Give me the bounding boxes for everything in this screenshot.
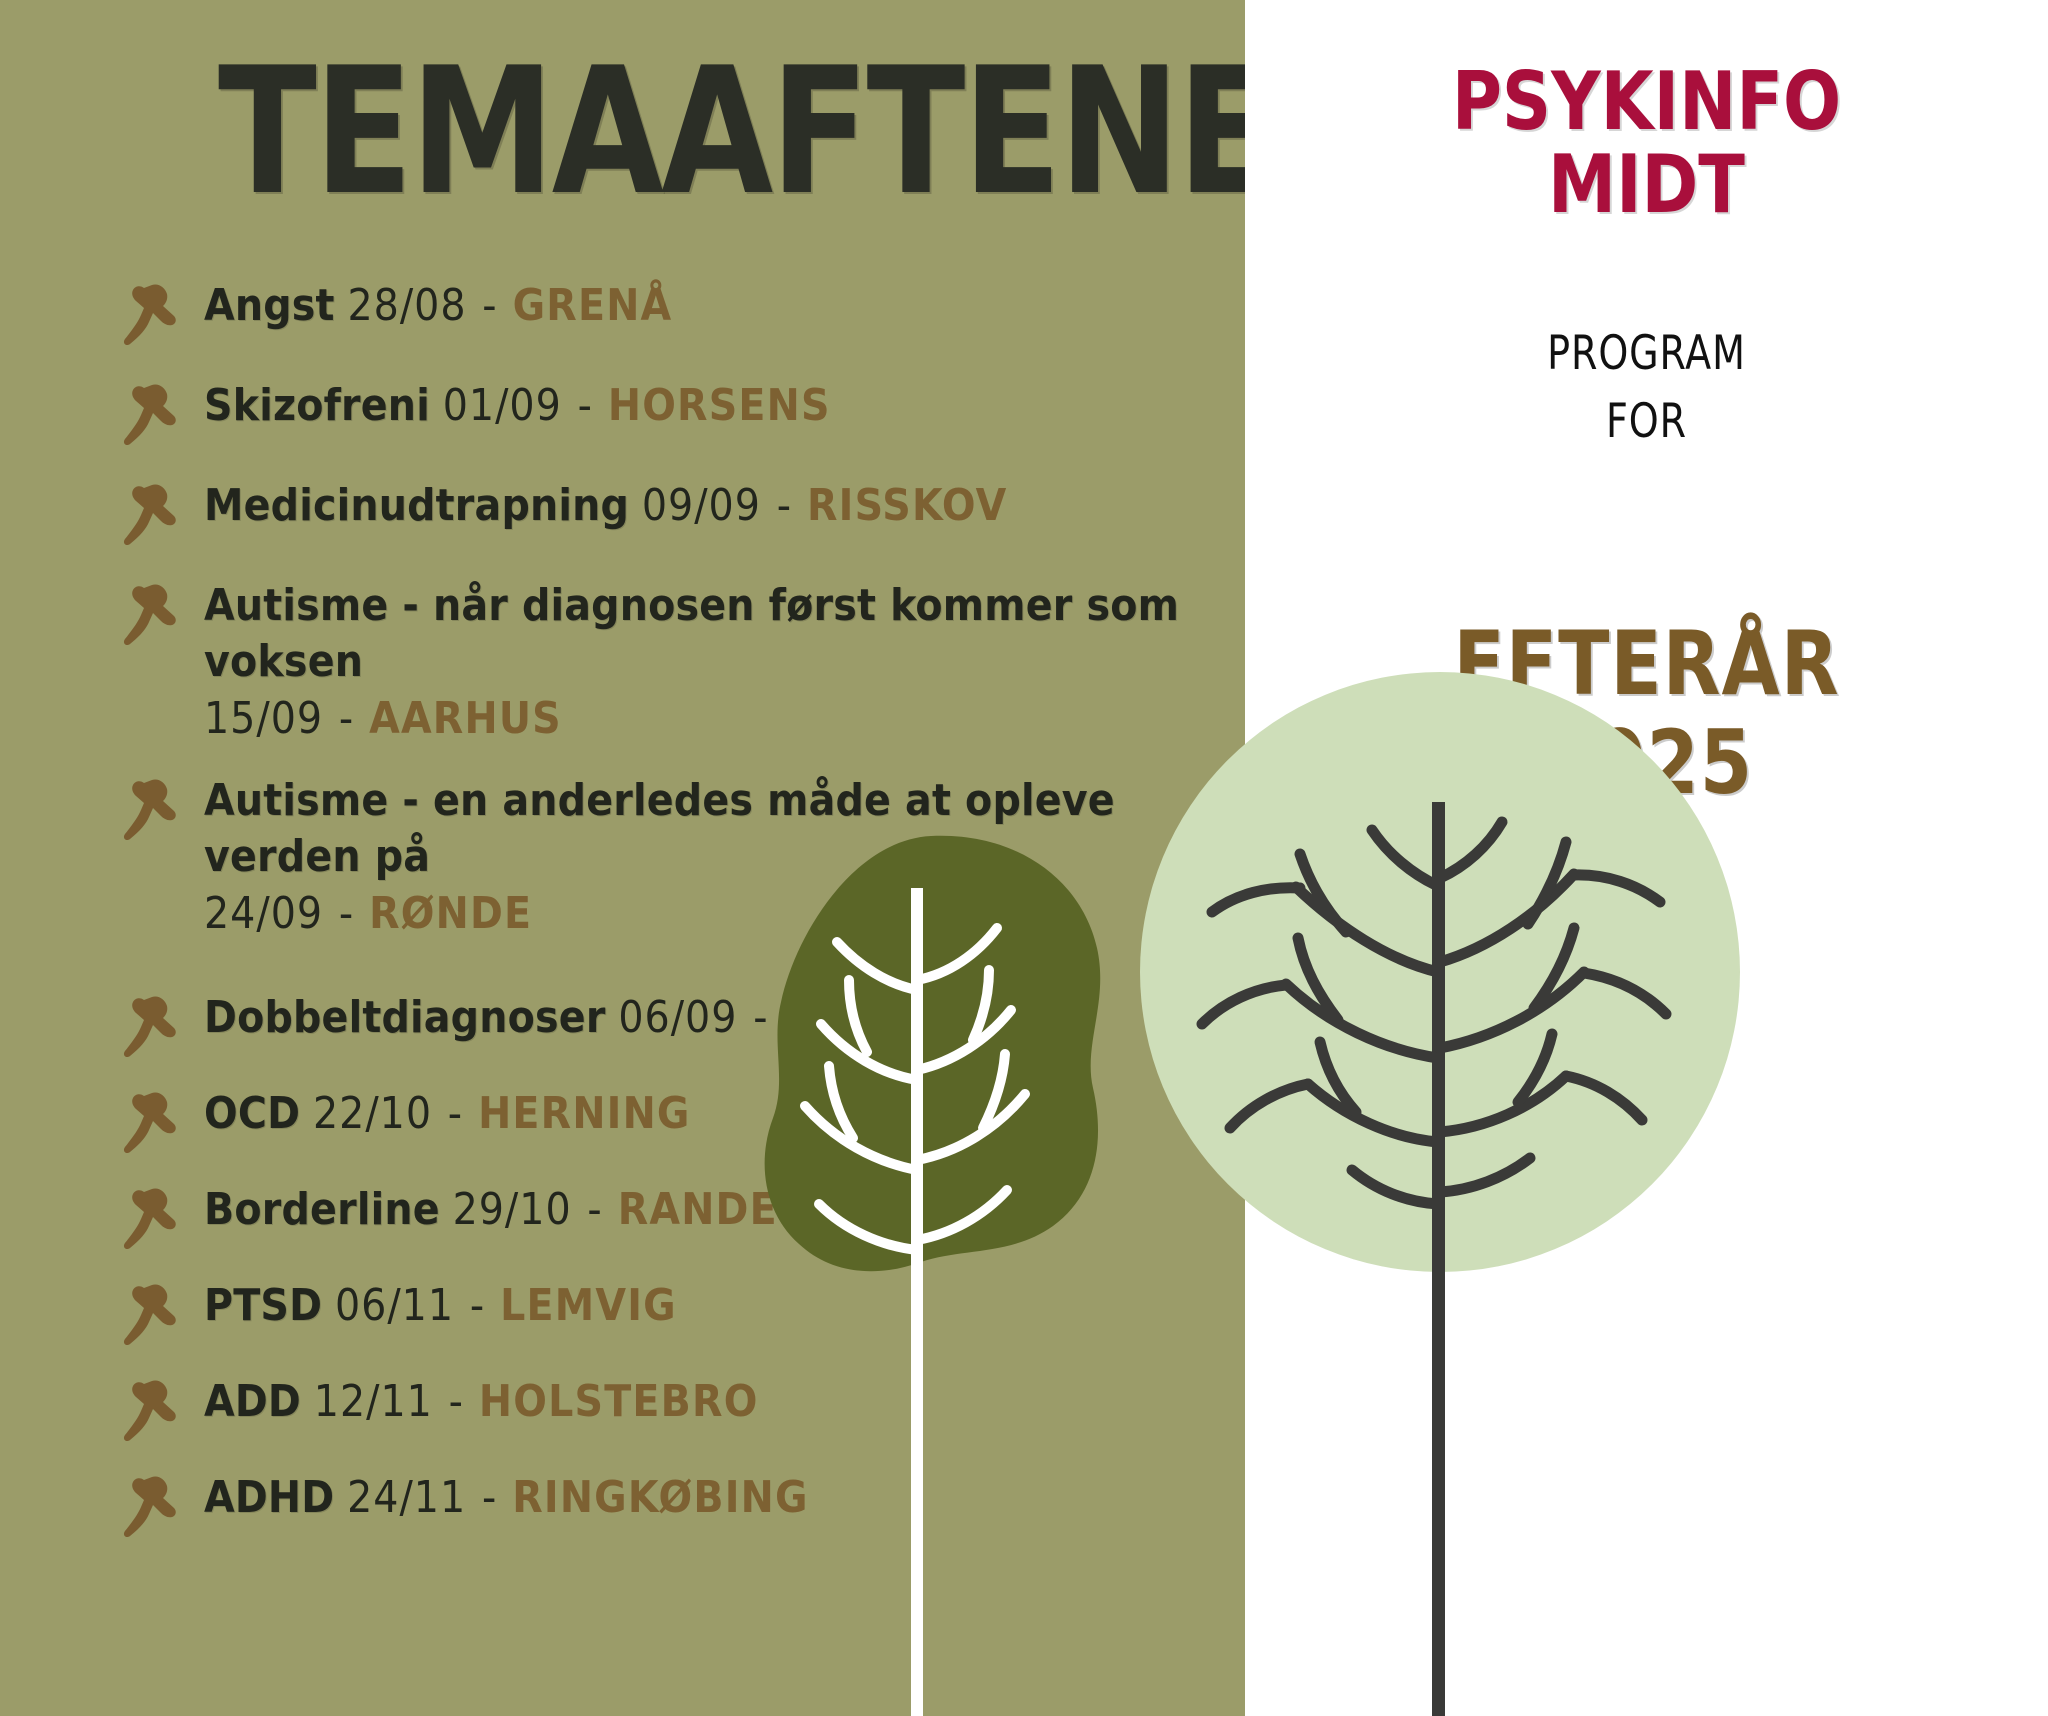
pushpin-icon [118,773,204,847]
program-block: PROGRAM FOR [1245,320,2048,456]
event-date: 24/09 [204,888,323,939]
event-separator: - [446,1376,467,1427]
brand-line-2: MIDT [1265,143,2028,226]
event-city: RANDERS [618,1184,840,1235]
pushpin-icon [118,990,204,1064]
event-text: Autisme - en anderledes måde at opleve v… [204,773,1238,942]
event-text: Dobbeltdiagnoser 06/09 - HAMMEL [204,990,986,1046]
event-city: LEMVIG [500,1280,677,1331]
event-city: HORSENS [608,380,831,431]
event-topic: ADD [204,1376,301,1427]
event-topic: OCD [204,1088,300,1139]
event-date: 01/09 [443,380,562,431]
event-topic: Angst [204,280,335,331]
event-separator: - [479,280,500,331]
page-title: TEMAAFTENER [218,52,1245,213]
list-item[interactable]: Angst 28/08 - GRENÅ [118,278,1238,352]
list-item[interactable]: PTSD 06/11 - LEMVIG [118,1278,1238,1352]
pushpin-icon [118,478,204,552]
event-topic: PTSD [204,1280,322,1331]
event-text: PTSD 06/11 - LEMVIG [204,1278,677,1334]
pushpin-icon [118,1278,204,1352]
brand-line-1: PSYKINFO [1265,60,2028,143]
event-city: RINGKØBING [512,1472,808,1523]
event-separator: - [774,480,795,531]
pushpin-icon [118,1086,204,1160]
event-text: Borderline 29/10 - RANDERS [204,1182,839,1238]
event-text: ADD 12/11 - HOLSTEBRO [204,1374,759,1430]
event-city: HOLSTEBRO [479,1376,759,1427]
program-line-1: PROGRAM [1285,320,2008,388]
event-text: Skizofreni 01/09 - HORSENS [204,378,831,434]
event-date: 06/11 [335,1280,454,1331]
event-separator: - [479,1472,500,1523]
event-separator: - [467,1280,488,1331]
season-line-2: 2025 [1265,714,2028,813]
event-separator: - [336,693,357,744]
list-item[interactable]: Autisme - en anderledes måde at opleve v… [118,773,1238,942]
event-topic: Medicinudtrapning [204,480,629,531]
event-text: Autisme - når diagnosen først kommer som… [204,578,1238,747]
event-date: 15/09 [204,693,323,744]
event-date: 29/10 [453,1184,572,1235]
event-topic: Borderline [204,1184,440,1235]
event-text: OCD 22/10 - HERNING [204,1086,691,1142]
left-olive-panel: TEMAAFTENER Angst 28/08 - GRENÅ [0,0,1245,1716]
pushpin-icon [118,578,204,652]
list-item[interactable]: Medicinudtrapning 09/09 - RISSKOV [118,478,1238,552]
event-city: HERNING [478,1088,691,1139]
list-item[interactable]: Autisme - når diagnosen først kommer som… [118,578,1238,747]
event-date: 28/08 [347,280,466,331]
event-city: RISSKOV [807,480,1007,531]
season-block: EFTERÅR 2025 [1245,615,2048,812]
program-line-2: FOR [1285,388,2008,456]
list-item[interactable]: Skizofreni 01/09 - HORSENS [118,378,1238,452]
event-text: Medicinudtrapning 09/09 - RISSKOV [204,478,1007,534]
event-list: Angst 28/08 - GRENÅ Skizofreni 01/09 - [118,278,1238,1566]
event-city: AARHUS [369,693,562,744]
event-topic: Skizofreni [204,380,430,431]
event-separator: - [445,1088,466,1139]
event-separator: - [750,992,771,1043]
event-city: GRENÅ [513,280,673,331]
pushpin-icon [118,1374,204,1448]
event-topic: Autisme - en anderledes måde at opleve v… [204,775,1115,882]
event-city: RØNDE [369,888,532,939]
event-topic: Dobbeltdiagnoser [204,992,606,1043]
poster-root: TEMAAFTENER Angst 28/08 - GRENÅ [0,0,2048,1716]
event-separator: - [336,888,357,939]
event-text: Angst 28/08 - GRENÅ [204,278,672,334]
brand-block: PSYKINFO MIDT [1245,60,2048,226]
list-item[interactable]: OCD 22/10 - HERNING [118,1086,1238,1160]
list-item[interactable]: Dobbeltdiagnoser 06/09 - HAMMEL [118,990,1238,1064]
pushpin-icon [118,1470,204,1544]
event-date: 06/09 [618,992,737,1043]
pushpin-icon [118,278,204,352]
pushpin-icon [118,378,204,452]
list-item[interactable]: Borderline 29/10 - RANDERS [118,1182,1238,1256]
event-date: 12/11 [314,1376,433,1427]
event-date: 24/11 [347,1472,466,1523]
pushpin-icon [118,1182,204,1256]
event-date: 22/10 [313,1088,432,1139]
event-separator: - [584,1184,605,1235]
event-separator: - [575,380,596,431]
season-line-1: EFTERÅR [1265,615,2028,714]
list-item[interactable]: ADHD 24/11 - RINGKØBING [118,1470,1238,1544]
event-text: ADHD 24/11 - RINGKØBING [204,1470,809,1526]
event-topic: Autisme - når diagnosen først kommer som… [204,580,1179,687]
list-item[interactable]: ADD 12/11 - HOLSTEBRO [118,1374,1238,1448]
event-topic: ADHD [204,1472,334,1523]
event-city: HAMMEL [783,992,985,1043]
right-white-panel: PSYKINFO MIDT PROGRAM FOR EFTERÅR 2025 [1245,0,2048,1716]
event-date: 09/09 [642,480,761,531]
